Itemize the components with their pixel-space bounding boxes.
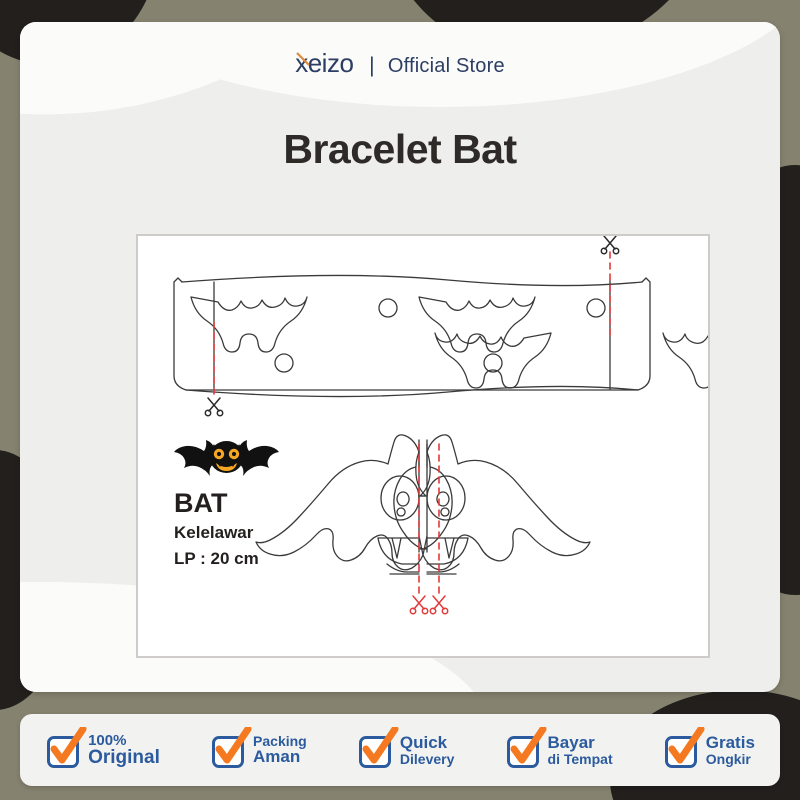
hole-punch [587, 299, 605, 317]
badge-packing-aman: Packing Aman [210, 731, 307, 769]
bracelet-strip-template [174, 275, 708, 396]
badge-line1: Bayar [548, 734, 613, 751]
check-icon [663, 731, 701, 769]
brand-header: xeizo | Official Store [20, 48, 780, 79]
badge-text: Gratis Ongkir [706, 734, 755, 766]
scissors-icon [601, 236, 618, 254]
page-title: Bracelet Bat [20, 126, 780, 173]
brand-store-label: Official Store [388, 55, 505, 77]
hole-punch [275, 354, 293, 372]
hole-punch [484, 354, 502, 372]
bat-label-block: BAT Kelelawar LP : 20 cm [174, 436, 294, 571]
product-card: xeizo | Official Store Bracelet Bat [20, 22, 780, 692]
check-icon [210, 731, 248, 769]
badge-text: Packing Aman [253, 734, 307, 766]
craft-template-sheet: BAT Kelelawar LP : 20 cm [136, 234, 710, 658]
bat-face-template [256, 435, 590, 614]
brand-divider: | [369, 54, 375, 77]
badge-line1: Gratis [706, 734, 755, 751]
badge-line1: 100% [88, 733, 160, 748]
badge-line2: di Tempat [548, 752, 613, 766]
bat-cutout [419, 297, 535, 352]
badge-quick-dilevery: Quick Dilevery [357, 731, 454, 769]
bat-cutout [191, 297, 307, 352]
brand-logo: xeizo [295, 48, 362, 78]
bat-eye [427, 476, 465, 520]
bat-cutout [663, 333, 708, 388]
bat-name: BAT [174, 490, 294, 517]
badge-100-original: 100% Original [45, 731, 160, 769]
badge-line2: Original [88, 748, 160, 767]
bat-size: LP : 20 cm [174, 548, 294, 571]
bat-icon [174, 436, 279, 480]
hole-punch [379, 299, 397, 317]
badge-line1: Packing [253, 734, 307, 748]
background-stage: xeizo | Official Store Bracelet Bat [0, 0, 800, 800]
bat-cutout [435, 333, 551, 388]
trust-badge-bar: 100% Original Packing Aman [20, 714, 780, 786]
bat-subtitle: Kelelawar [174, 522, 294, 545]
badge-text: Bayar di Tempat [548, 734, 613, 766]
badge-bayar-di-tempat: Bayar di Tempat [505, 731, 613, 769]
badge-text: Quick Dilevery [400, 734, 454, 766]
badge-gratis-ongkir: Gratis Ongkir [663, 731, 755, 769]
badge-line1: Quick [400, 734, 454, 751]
check-icon [357, 731, 395, 769]
badge-text: 100% Original [88, 733, 160, 768]
scissors-icon [430, 596, 447, 614]
badge-line2: Ongkir [706, 752, 755, 766]
badge-line2: Dilevery [400, 752, 454, 766]
badge-line2: Aman [253, 748, 307, 765]
bat-eye [381, 476, 419, 520]
logo-accent-icon [296, 51, 310, 67]
scissors-icon [410, 596, 427, 614]
scissors-icon [205, 398, 222, 416]
check-icon [505, 731, 543, 769]
check-icon [45, 731, 83, 769]
